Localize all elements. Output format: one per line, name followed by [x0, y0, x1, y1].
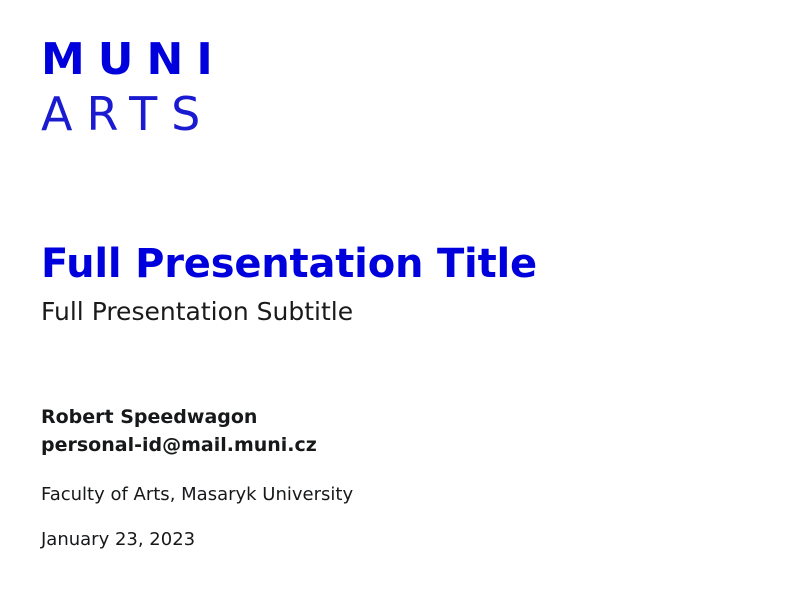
slide-subtitle: Full Presentation Subtitle — [41, 297, 741, 327]
presentation-slide: MUNI ARTS Full Presentation Title Full P… — [0, 0, 794, 596]
author-email: personal-id@mail.muni.cz — [41, 432, 741, 460]
logo-wordmark-muni: MUNI — [41, 38, 226, 84]
slide-title: Full Presentation Title — [41, 242, 741, 287]
author-block: Robert Speedwagon personal-id@mail.muni.… — [41, 404, 741, 459]
author-name: Robert Speedwagon — [41, 404, 741, 432]
logo-wordmark-arts: ARTS — [41, 90, 226, 138]
presentation-date: January 23, 2023 — [41, 528, 195, 551]
affiliation-text: Faculty of Arts, Masaryk University — [41, 483, 353, 506]
muni-arts-logo: MUNI ARTS — [41, 38, 226, 138]
title-block: Full Presentation Title Full Presentatio… — [41, 242, 741, 327]
